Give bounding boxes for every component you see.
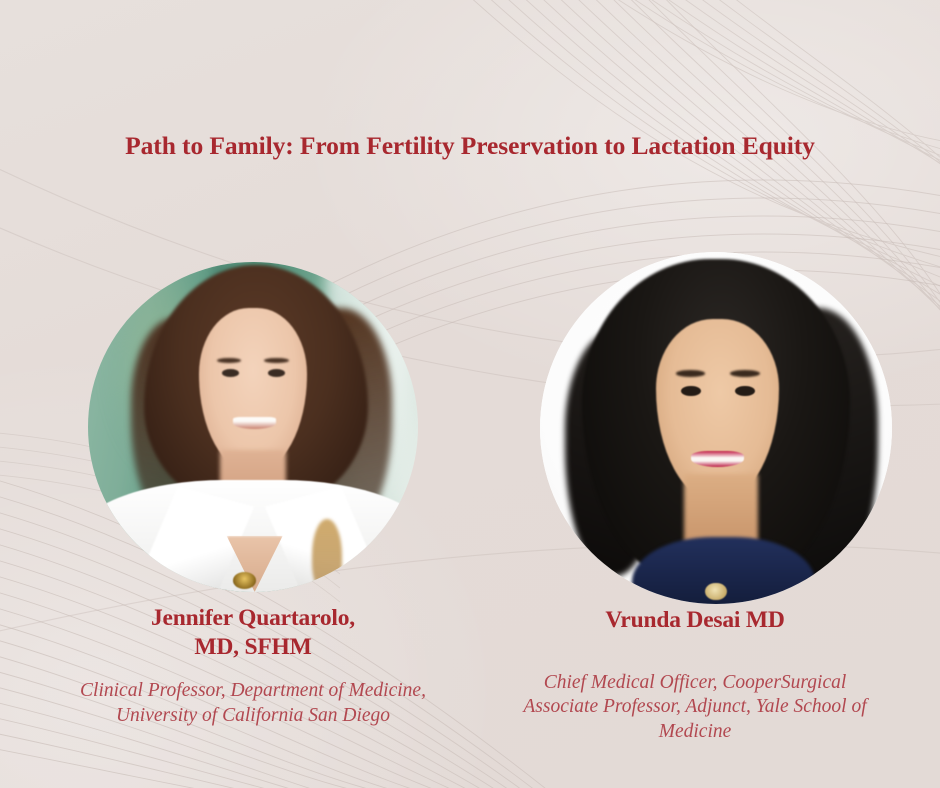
speaker-caption-right: Vrunda Desai MD Chief Medical Officer, C… (460, 606, 930, 745)
speaker-role-left-line2: University of California San Diego (116, 705, 390, 726)
speaker-name-left: Jennifer Quartarolo, MD, SFHM (18, 604, 488, 661)
speaker-role-left-line1: Clinical Professor, Department of Medici… (80, 680, 426, 701)
speaker-name-left-line1: Jennifer Quartarolo, (151, 605, 355, 631)
portrait-photo (540, 252, 892, 604)
speaker-caption-left: Jennifer Quartarolo, MD, SFHM Clinical P… (18, 604, 488, 729)
avatar-vrunda-desai (540, 252, 892, 604)
portrait-photo (88, 262, 418, 592)
speaker-role-right-line2: Associate Professor, Adjunct, Yale Schoo… (523, 696, 866, 717)
speaker-name-right: Vrunda Desai MD (460, 606, 930, 635)
speaker-role-right-line1: Chief Medical Officer, CooperSurgical (544, 672, 847, 693)
speaker-role-right-line3: Medicine (659, 721, 732, 742)
speaker-announcement-poster: Path to Family: From Fertility Preservat… (0, 0, 940, 788)
speaker-role-left: Clinical Professor, Department of Medici… (18, 679, 488, 729)
speaker-name-left-line2: MD, SFHM (194, 634, 311, 660)
avatar-jennifer-quartarolo (88, 262, 418, 592)
speaker-name-right-line1: Vrunda Desai MD (605, 607, 784, 633)
speaker-role-right: Chief Medical Officer, CooperSurgical As… (460, 671, 930, 745)
